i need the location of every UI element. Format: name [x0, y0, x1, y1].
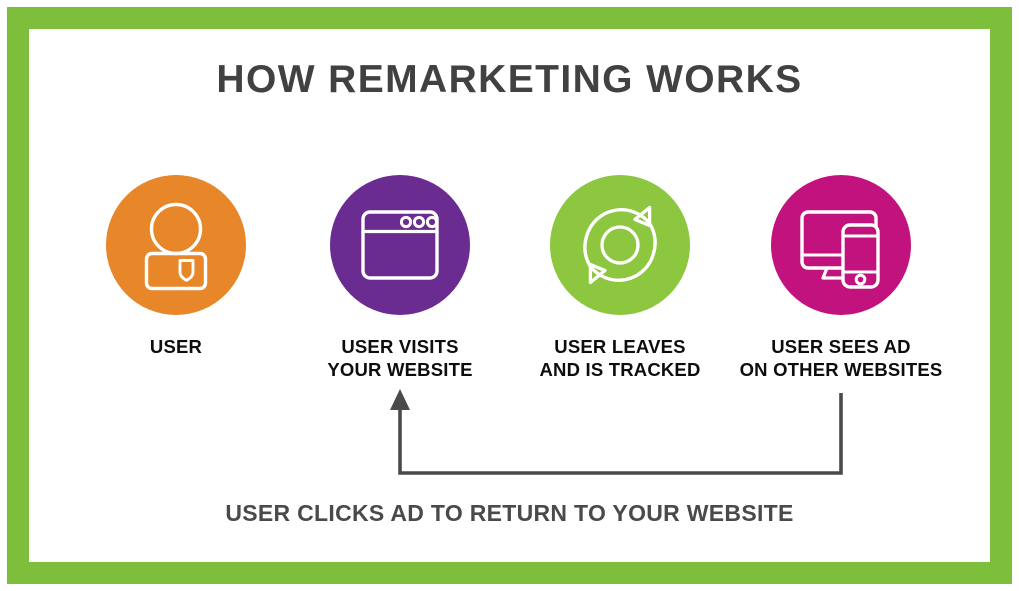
refresh-cycle-icon	[550, 175, 690, 315]
step-user-visits-website: USER VISITS YOUR WEBSITE	[280, 175, 520, 381]
user-person-icon	[106, 175, 246, 315]
step-user-leaves-tracked: USER LEAVES AND IS TRACKED	[500, 175, 740, 381]
infographic-root: HOW REMARKETING WORKS USER	[0, 0, 1019, 591]
footer-caption: USER CLICKS AD TO RETURN TO YOUR WEBSITE	[0, 500, 1019, 527]
step-label-user-sees-ad: USER SEES AD ON OTHER WEBSITES	[721, 335, 961, 381]
step-user: USER	[56, 175, 296, 358]
browser-window-icon	[330, 175, 470, 315]
infographic-canvas: HOW REMARKETING WORKS USER	[0, 0, 1019, 591]
arrowhead-up-icon	[390, 389, 410, 410]
step-circle-devices	[771, 175, 911, 315]
step-circle-refresh	[550, 175, 690, 315]
step-circle-browser	[330, 175, 470, 315]
page-title: HOW REMARKETING WORKS	[0, 58, 1019, 102]
step-circle-user	[106, 175, 246, 315]
step-label-user-leaves-tracked: USER LEAVES AND IS TRACKED	[500, 335, 740, 381]
monitor-and-phone-icon	[771, 175, 911, 315]
step-label-user-visits-website: USER VISITS YOUR WEBSITE	[280, 335, 520, 381]
step-label-user: USER	[56, 335, 296, 358]
step-user-sees-ad: USER SEES AD ON OTHER WEBSITES	[721, 175, 961, 381]
